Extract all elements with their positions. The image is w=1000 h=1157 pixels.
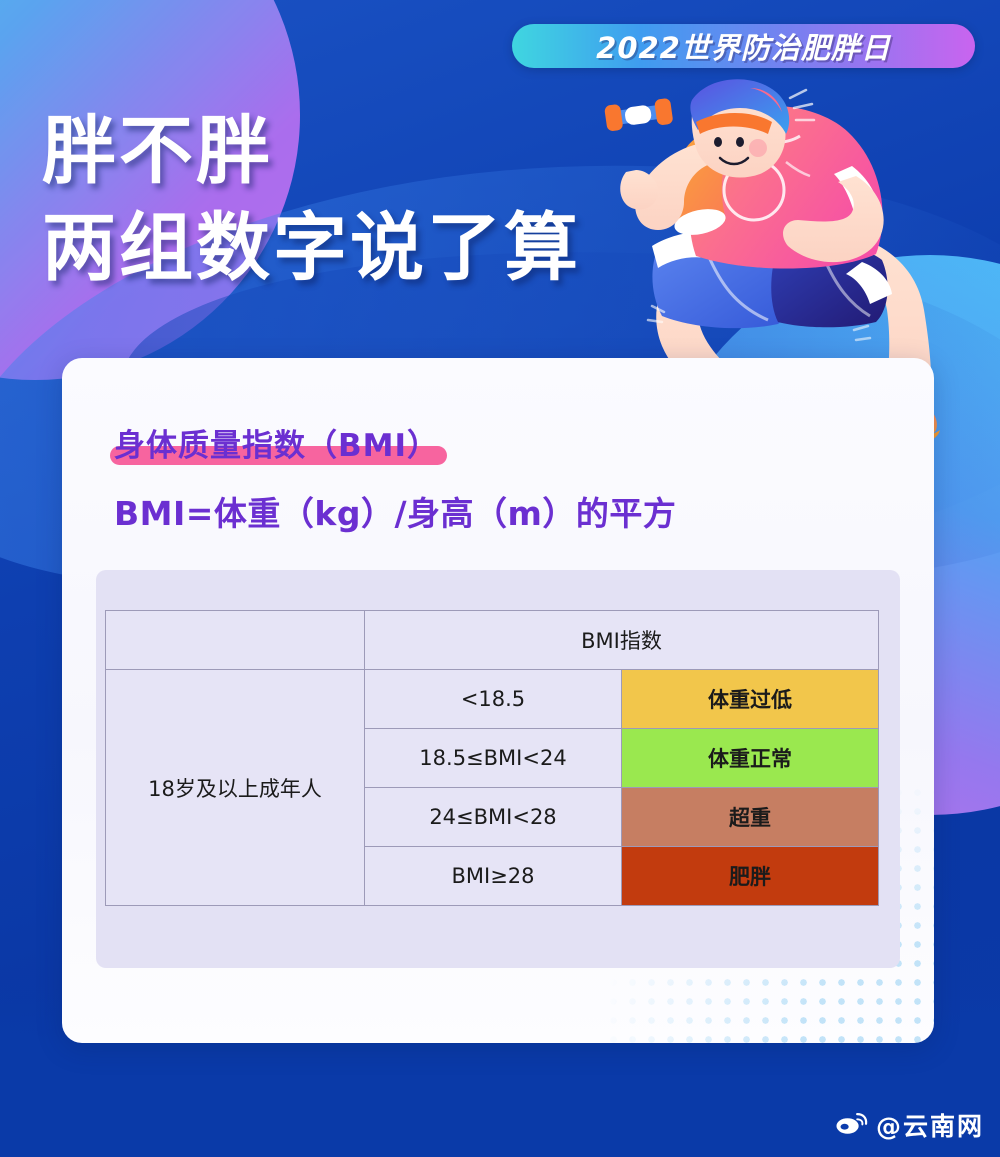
yunnan-net-label: @云南网	[876, 1107, 984, 1143]
weibo-logo-icon-yunnan	[835, 1110, 869, 1141]
table-cell-range: 18.5≤BMI<24	[365, 729, 622, 788]
bmi-table: BMI指数 18岁及以上成年人 <18.5 体重过低 18.5≤BMI<24 体…	[105, 610, 879, 906]
event-badge: 2022世界防治肥胖日	[512, 24, 975, 68]
table-cell-category-obese: 肥胖	[622, 847, 879, 906]
yunnan-net-watermark: @云南网	[835, 1107, 984, 1143]
page-title: 胖不胖 两组数字说了算	[42, 114, 581, 287]
page-title-line-2: 两组数字说了算	[42, 211, 581, 286]
poster-root: 2022世界防治肥胖日 胖不胖 两组数字说了算	[0, 0, 1000, 1157]
table-cell-range: 24≤BMI<28	[365, 788, 622, 847]
bmi-formula-text: BMI=体重（kg）/身高（m）的平方	[114, 487, 676, 535]
table-header-bmi-index: BMI指数	[365, 611, 879, 670]
bmi-heading-highlight-wrap: 身体质量指数（BMI）	[114, 420, 439, 465]
table-header-blank-cell	[106, 611, 365, 670]
table-cell-age-group: 18岁及以上成年人	[106, 670, 365, 906]
table-row: 18岁及以上成年人 <18.5 体重过低	[106, 670, 879, 729]
event-badge-label: 2022世界防治肥胖日	[596, 25, 891, 67]
table-cell-range: BMI≥28	[365, 847, 622, 906]
table-cell-range: <18.5	[365, 670, 622, 729]
footer: @ 人民日报 PEOPLE'S DAILY	[0, 1042, 1000, 1157]
bmi-table-panel: BMI指数 18岁及以上成年人 <18.5 体重过低 18.5≤BMI<24 体…	[96, 570, 900, 968]
table-header-row: BMI指数	[106, 611, 879, 670]
bmi-heading-text: 身体质量指数（BMI）	[114, 428, 439, 464]
page-title-line-1: 胖不胖	[42, 114, 581, 189]
table-cell-category-normal: 体重正常	[622, 729, 879, 788]
bmi-heading-block: 身体质量指数（BMI） BMI=体重（kg）/身高（m）的平方	[114, 420, 676, 535]
table-cell-category-overweight: 超重	[622, 788, 879, 847]
table-cell-category-underweight: 体重过低	[622, 670, 879, 729]
content-card: 身体质量指数（BMI） BMI=体重（kg）/身高（m）的平方 BMI指数 18…	[62, 358, 934, 1043]
